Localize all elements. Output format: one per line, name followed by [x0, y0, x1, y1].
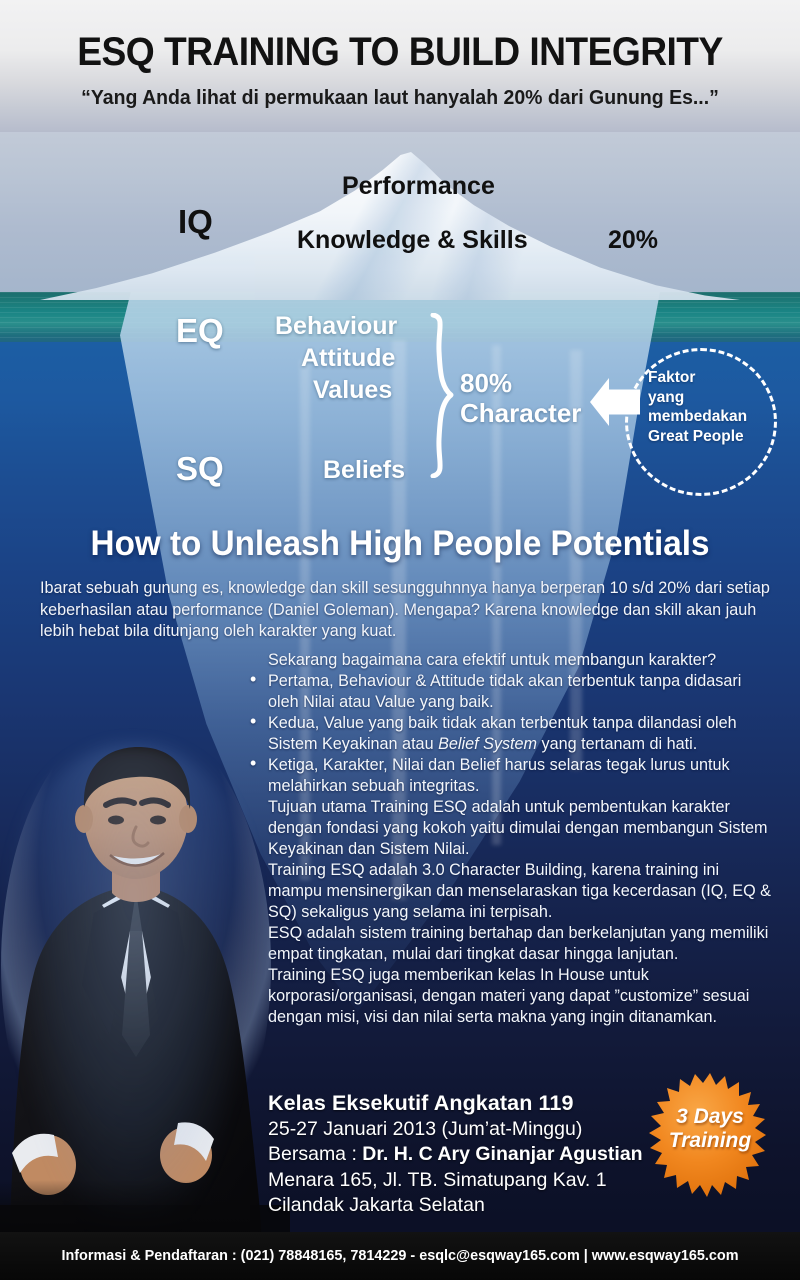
footer-contact-info: Informasi & Pendaftaran : (021) 78848165…: [16, 1247, 784, 1264]
paragraph: Tujuan utama Training ESQ adalah untuk p…: [268, 797, 772, 860]
label-percent-above: 20%: [608, 226, 658, 255]
event-speaker-row: Bersama : Dr. H. C Ary Ginanjar Agustian: [268, 1142, 688, 1168]
callout-line-1: Faktor: [648, 368, 778, 388]
event-date: 25-27 Januari 2013 (Jum’at-Minggu): [268, 1117, 688, 1143]
label-knowledge-skills: Knowledge & Skills: [297, 226, 528, 255]
paragraph-group: Tujuan utama Training ESQ adalah untuk p…: [268, 797, 772, 1028]
callout-line-4: Great People: [648, 427, 778, 447]
status-badge: 3 Days Training: [645, 1071, 775, 1201]
paragraph: Training ESQ adalah 3.0 Character Buildi…: [268, 860, 772, 923]
label-sq: SQ: [176, 450, 224, 488]
section-headline: How to Unleash High People Potentials: [20, 524, 780, 564]
list-item: Ketiga, Karakter, Nilai dan Belief harus…: [248, 755, 772, 797]
bullet2-italic: Belief System: [438, 735, 537, 753]
poster-root: ESQ TRAINING TO BUILD INTEGRITY “Yang An…: [0, 0, 800, 1280]
label-percent-below: 80%: [460, 368, 512, 399]
label-performance: Performance: [342, 172, 495, 201]
label-behaviour: Behaviour: [275, 312, 397, 341]
photo-bottom-blend: [0, 1180, 250, 1240]
list-item: Pertama, Behaviour & Attitude tidak akan…: [248, 671, 772, 713]
bullet2-post: yang tertanam di hati.: [537, 735, 697, 753]
label-character: Character: [460, 398, 581, 429]
lead-question: Sekarang bagaimana cara efektif untuk me…: [268, 650, 772, 671]
badge-line-2: Training: [645, 1129, 775, 1153]
speaker-photo: [0, 735, 290, 1255]
paragraph: Training ESQ juga memberikan kelas In Ho…: [268, 965, 772, 1028]
label-attitude: Attitude: [301, 344, 395, 373]
body-copy-column: Sekarang bagaimana cara efektif untuk me…: [248, 650, 772, 1028]
list-item: Kedua, Value yang baik tidak akan terben…: [248, 713, 772, 755]
poster-header: ESQ TRAINING TO BUILD INTEGRITY “Yang An…: [0, 0, 800, 132]
page-title: ESQ TRAINING TO BUILD INTEGRITY: [28, 30, 772, 75]
intro-paragraph: Ibarat sebuah gunung es, knowledge dan s…: [40, 578, 770, 643]
event-with-label: Bersama :: [268, 1143, 362, 1165]
callout-text: Faktor yang membedakan Great People: [648, 368, 778, 446]
bullet-list: Pertama, Behaviour & Attitude tidak akan…: [248, 671, 772, 797]
callout-line-2: yang: [648, 388, 778, 408]
paragraph: ESQ adalah sistem training bertahap dan …: [268, 923, 772, 965]
event-class-title: Kelas Eksekutif Angkatan 119: [268, 1091, 688, 1117]
badge-line-1: 3 Days: [645, 1105, 775, 1129]
callout-line-3: membedakan: [648, 407, 778, 427]
page-subtitle: “Yang Anda lihat di permukaan laut hanya…: [20, 86, 780, 110]
curly-brace-icon: [429, 313, 455, 478]
label-beliefs: Beliefs: [323, 456, 405, 485]
label-eq: EQ: [176, 312, 224, 350]
label-iq: IQ: [178, 203, 213, 241]
badge-text: 3 Days Training: [645, 1105, 775, 1153]
label-values: Values: [313, 376, 392, 405]
event-speaker-name: Dr. H. C Ary Ginanjar Agustian: [362, 1143, 642, 1165]
photo-glow: [8, 745, 258, 1245]
event-details: Kelas Eksekutif Angkatan 119 25-27 Janua…: [268, 1091, 688, 1219]
event-venue-line-2: Cilandak Jakarta Selatan: [268, 1193, 688, 1219]
event-venue-line-1: Menara 165, Jl. TB. Simatupang Kav. 1: [268, 1168, 688, 1194]
